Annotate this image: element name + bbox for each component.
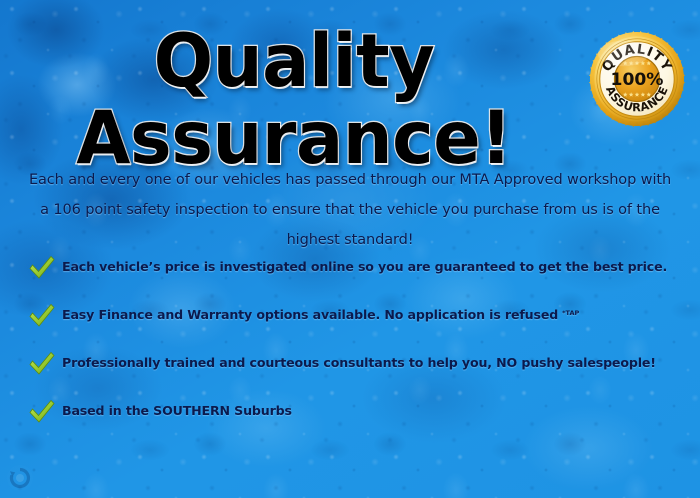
check-mark-icon [26, 349, 58, 379]
list-item-label: Each vehicle’s price is investigated onl… [58, 252, 667, 274]
check-mark-icon [26, 253, 58, 283]
list-item: Each vehicle’s price is investigated onl… [26, 252, 676, 300]
quality-assurance-seal-icon: QUALITY ASSURANCE 100% [588, 30, 686, 128]
title-container: Quality Assurance! [0, 24, 588, 177]
quality-assurance-banner: Quality Assurance! [0, 0, 700, 498]
check-mark-icon [26, 301, 58, 331]
check-mark-icon [26, 397, 58, 427]
seal-center-text: 100% [611, 70, 664, 90]
list-item: Based in the SOUTHERN Suburbs [26, 396, 676, 444]
refresh-circle-icon [6, 464, 34, 492]
page-title: Quality Assurance! [12, 24, 576, 177]
list-item: Easy Finance and Warranty options availa… [26, 300, 676, 348]
feature-list: Each vehicle’s price is investigated onl… [26, 252, 676, 444]
list-item-label: Professionally trained and courteous con… [58, 348, 656, 370]
intro-paragraph: Each and every one of our vehicles has p… [26, 165, 674, 255]
list-item-label: Based in the SOUTHERN Suburbs [58, 396, 292, 418]
list-item-label: Easy Finance and Warranty options availa… [58, 300, 579, 322]
list-item: Professionally trained and courteous con… [26, 348, 676, 396]
terms-footnote: *TAP [562, 309, 579, 317]
